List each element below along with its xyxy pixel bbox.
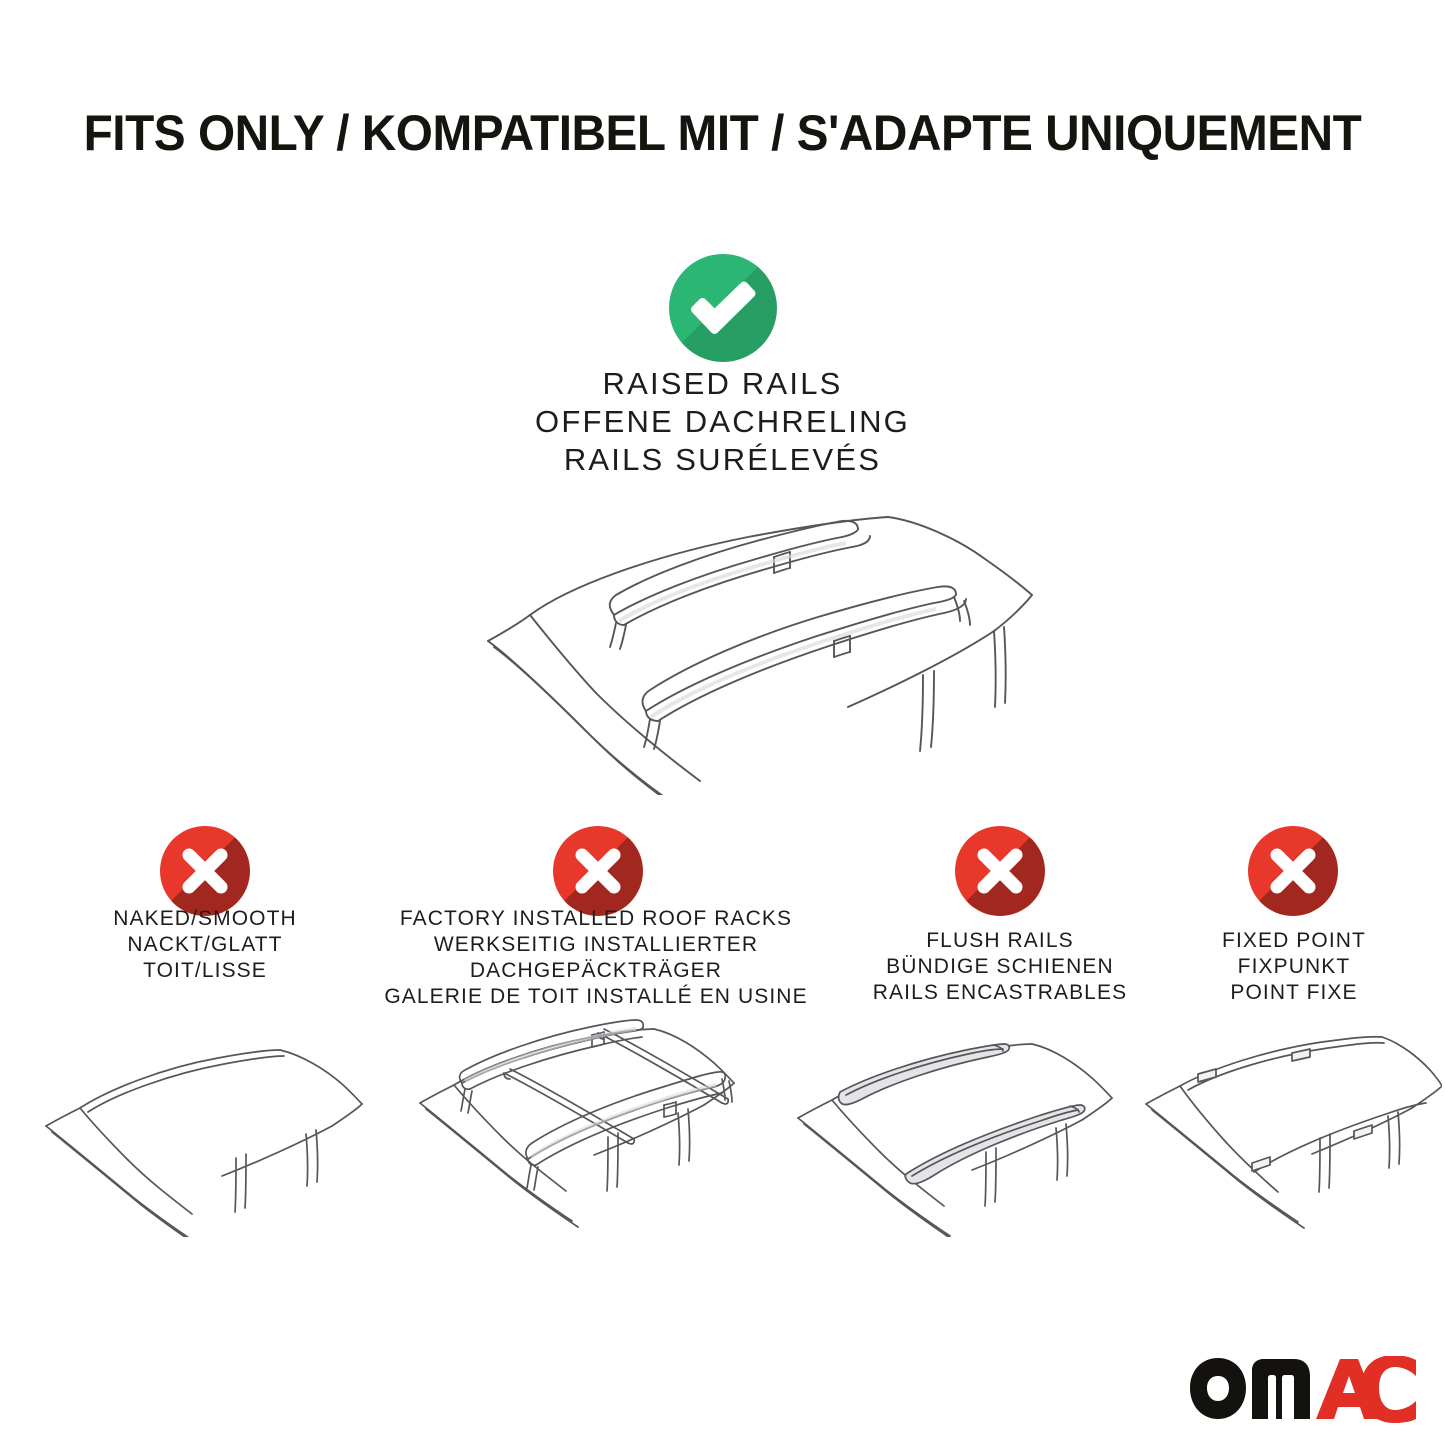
label-line: BÜNDIGE SCHIENEN (840, 954, 1160, 980)
roof-flush-rails-illustration (772, 1022, 1146, 1237)
cross-glyph (1248, 826, 1338, 916)
roof-naked-smooth-illustration (22, 1022, 382, 1237)
check-icon (669, 254, 777, 362)
compatible-label-line: RAILS SURÉLEVÉS (0, 441, 1445, 479)
cross-icon (160, 826, 250, 916)
label-line: GALERIE DE TOIT INSTALLÉ EN USINE (370, 984, 822, 1010)
cross-icon (955, 826, 1045, 916)
cross-glyph (955, 826, 1045, 916)
label-line: WERKSEITIG INSTALLIERTER (370, 932, 822, 958)
label-line: FLUSH RAILS (840, 928, 1160, 954)
cross-icon (553, 826, 643, 916)
omac-logo (1188, 1356, 1418, 1424)
compatibility-infographic: FITS ONLY / KOMPATIBEL MIT / S'ADAPTE UN… (0, 0, 1445, 1445)
cross-icon (1248, 826, 1338, 916)
label-line: DACHGEPÄCKTRÄGER (370, 958, 822, 984)
compatible-label-line: OFFENE DACHRELING (0, 403, 1445, 441)
label-line: FIXED POINT (1163, 928, 1425, 954)
incompatible-label-flush-rails: FLUSH RAILS BÜNDIGE SCHIENEN RAILS ENCAS… (840, 928, 1160, 1006)
label-line: RAILS ENCASTRABLES (840, 980, 1160, 1006)
roof-with-raised-rails-illustration (418, 495, 1048, 795)
roof-fixed-point-illustration (1142, 1022, 1442, 1237)
page-title: FITS ONLY / KOMPATIBEL MIT / S'ADAPTE UN… (33, 104, 1413, 162)
label-line: TOIT/LISSE (35, 958, 375, 984)
incompatible-label-naked-smooth: NAKED/SMOOTH NACKT/GLATT TOIT/LISSE (35, 906, 375, 984)
cross-glyph (160, 826, 250, 916)
label-line: FIXPUNKT (1163, 954, 1425, 980)
label-line: NACKT/GLATT (35, 932, 375, 958)
incompatible-label-fixed-point: FIXED POINT FIXPUNKT POINT FIXE (1163, 928, 1425, 1006)
label-line: FACTORY INSTALLED ROOF RACKS (370, 906, 822, 932)
label-line: NAKED/SMOOTH (35, 906, 375, 932)
label-line: POINT FIXE (1163, 980, 1425, 1006)
compatible-label-line: RAISED RAILS (0, 365, 1445, 403)
check-glyph (669, 254, 777, 362)
roof-factory-roof-racks-illustration (392, 1013, 768, 1235)
incompatible-label-factory-roof-racks: FACTORY INSTALLED ROOF RACKS WERKSEITIG … (370, 906, 822, 1010)
cross-glyph (553, 826, 643, 916)
compatible-label: RAISED RAILS OFFENE DACHRELING RAILS SUR… (0, 365, 1445, 479)
